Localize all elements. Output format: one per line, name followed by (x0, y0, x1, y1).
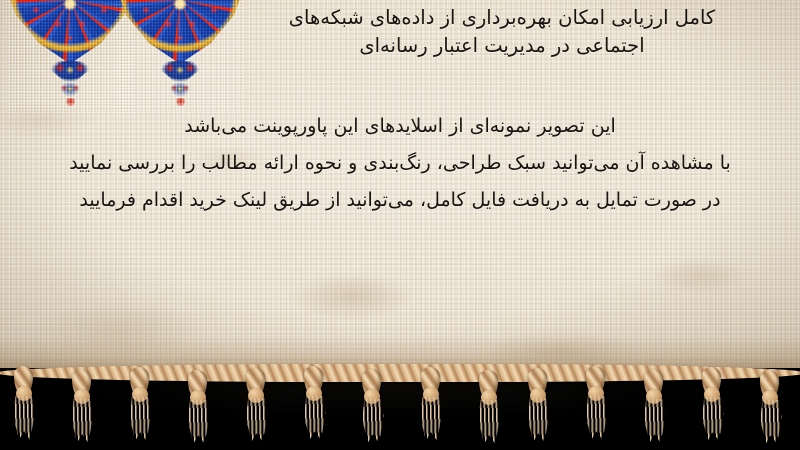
slide-body-text: این تصویر نمونه‌ای از اسلایدهای این پاور… (22, 108, 778, 219)
fringe-skirt (419, 397, 443, 441)
fringe-skirt (700, 397, 724, 441)
body-line-1: این تصویر نمونه‌ای از اسلایدهای این پاور… (22, 108, 778, 145)
fringe-skirt (758, 400, 782, 444)
medallion-pendant-upper-icon (50, 60, 90, 86)
slide-title-line-2: اجتماعی در مدیریت اعتبار رسانه‌ای (222, 32, 782, 60)
fringe-selvedge-cord (0, 364, 800, 382)
fringe-skirt (642, 399, 666, 443)
medallion-pendant-lower-icon (66, 98, 75, 106)
fringe-skirt (584, 396, 608, 440)
fringe-skirt (186, 400, 210, 444)
fringe-skirt (70, 399, 94, 443)
fringe-skirt (12, 396, 36, 440)
fringe-skirt (128, 397, 152, 441)
fringe-skirt (526, 398, 550, 442)
slide-title-line-1: کامل ارزیابی امکان بهره‌برداری از داده‌ه… (222, 4, 782, 32)
medallion-gold-edge-icon (6, 0, 134, 64)
fringe-skirt (360, 399, 384, 443)
fringe-skirt (302, 396, 326, 440)
slide-canvas: کامل ارزیابی امکان بهره‌برداری از داده‌ه… (0, 0, 800, 450)
fringe-skirt (244, 398, 268, 442)
fringe-skirt (477, 400, 501, 444)
slide-title: کامل ارزیابی امکان بهره‌برداری از داده‌ه… (222, 4, 782, 61)
persian-medallion-ornament-left (6, 0, 134, 98)
body-line-2: با مشاهده آن می‌توانید سبک طراحی، رنگ‌بن… (22, 145, 778, 182)
body-line-3: در صورت تمایل به دریافت فایل کامل، می‌تو… (22, 182, 778, 219)
medallion-pendant-lower-icon (176, 98, 185, 106)
medallion-pendant-upper-icon (160, 60, 200, 86)
carpet-fringe-tassels (0, 358, 800, 450)
